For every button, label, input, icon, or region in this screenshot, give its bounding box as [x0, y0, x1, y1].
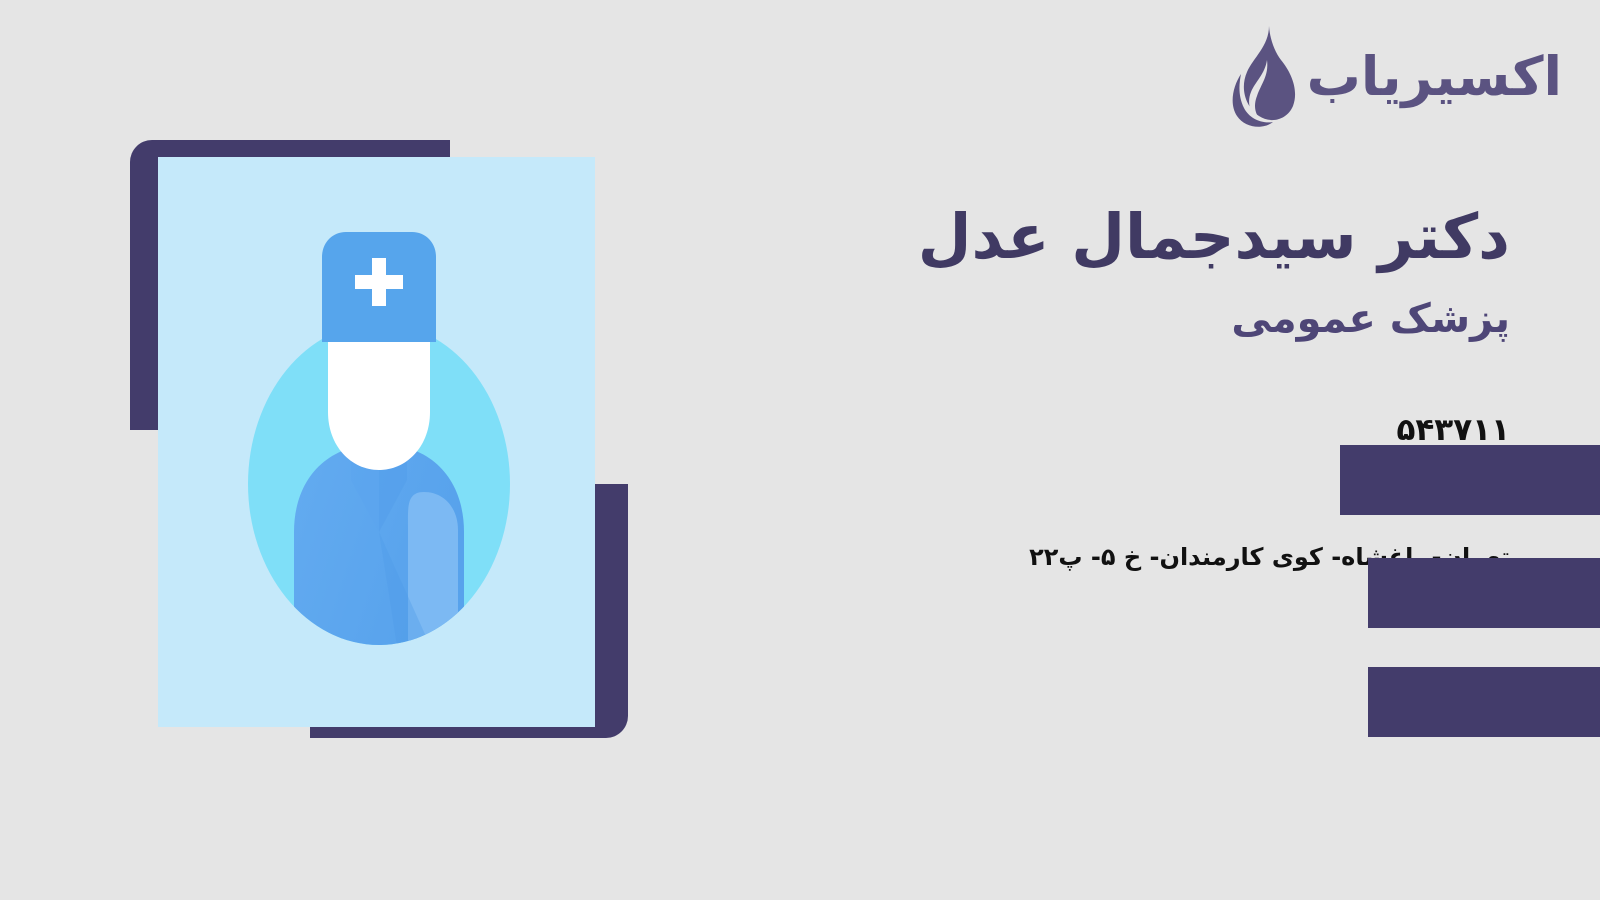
flame-icon — [1225, 24, 1297, 130]
brand-wordmark: اکسیریاب — [1307, 50, 1562, 104]
doctor-code-number: ۵۴۳۷۱۱ — [1374, 412, 1510, 448]
decorative-bar-3 — [1368, 667, 1600, 737]
doctor-specialty: پزشک عمومی — [810, 295, 1510, 343]
doctor-info-panel: دکتر سیدجمال عدل پزشک عمومی ۵۴۳۷۱۱ تهران… — [810, 200, 1510, 571]
doctor-name: دکتر سیدجمال عدل — [810, 200, 1510, 273]
photo-card — [158, 157, 595, 727]
profile-card-canvas: اکسیریاب — [0, 0, 1600, 900]
brand-logo[interactable]: اکسیریاب — [1225, 24, 1562, 130]
decorative-bar-1 — [1340, 445, 1600, 515]
doctor-illustration — [130, 140, 630, 740]
decorative-bar-2 — [1368, 558, 1600, 628]
doctor-avatar-icon — [248, 232, 510, 652]
